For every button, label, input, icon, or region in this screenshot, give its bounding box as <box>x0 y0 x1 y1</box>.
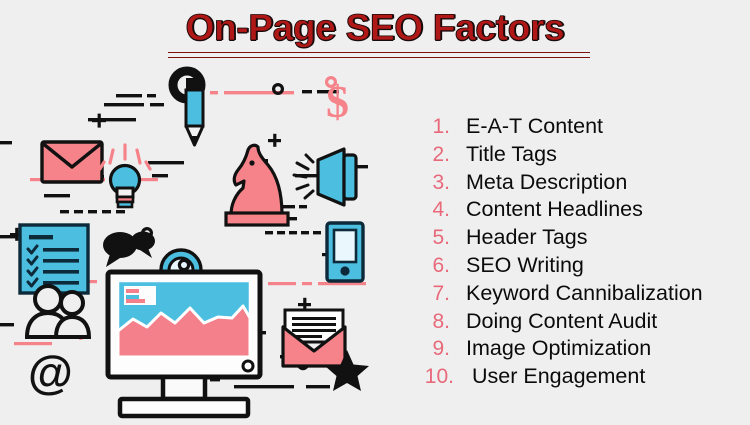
list-item-number: 10. <box>408 365 454 389</box>
seo-factors-list: 1. E-A-T Content 2. Title Tags 3. Meta D… <box>408 114 748 392</box>
poster-canvas: On-Page SEO Factors <box>0 0 750 425</box>
list-item-label: SEO Writing <box>466 253 584 278</box>
list-item-label: Title Tags <box>466 142 557 167</box>
svg-text:@: @ <box>28 346 73 398</box>
seo-illustration: $ <box>0 55 400 425</box>
list-item: 3. Meta Description <box>408 170 748 198</box>
desktop-monitor-icon <box>108 260 260 416</box>
list-item-number: 6. <box>408 254 450 278</box>
list-item-number: 3. <box>408 171 450 195</box>
page-title: On-Page SEO Factors <box>182 6 569 50</box>
list-item-number: 1. <box>408 115 450 139</box>
list-item-label: Image Optimization <box>466 336 651 361</box>
chess-knight-icon <box>226 145 288 225</box>
list-item-label: User Engagement <box>472 364 645 389</box>
list-item: 9. Image Optimization <box>408 336 748 364</box>
page-title-wrapper: On-Page SEO Factors <box>0 6 750 50</box>
list-item-label: E-A-T Content <box>466 114 603 139</box>
list-item: 6. SEO Writing <box>408 253 748 281</box>
smartphone-icon <box>327 223 363 281</box>
list-item-label: Keyword Cannibalization <box>466 281 703 306</box>
list-item: 8. Doing Content Audit <box>408 309 748 337</box>
list-item-number: 4. <box>408 198 450 222</box>
speech-bubbles-icon <box>103 232 155 268</box>
list-item-label: Header Tags <box>466 225 588 250</box>
list-item-label: Content Headlines <box>466 197 643 222</box>
list-item-number: 2. <box>408 143 450 167</box>
list-item: 7. Keyword Cannibalization <box>408 281 748 309</box>
dollar-sign-icon: $ <box>326 76 349 127</box>
list-item: 1. E-A-T Content <box>408 114 748 142</box>
list-item-number: 8. <box>408 310 450 334</box>
pencil-icon <box>186 78 203 145</box>
svg-text:$: $ <box>326 76 349 127</box>
list-item-number: 9. <box>408 337 450 361</box>
at-sign-icon: @ <box>28 346 73 398</box>
list-item-label: Doing Content Audit <box>466 309 657 334</box>
list-item: 4. Content Headlines <box>408 197 748 225</box>
list-item-number: 7. <box>408 282 450 306</box>
megaphone-icon <box>294 149 356 205</box>
list-item: 2. Title Tags <box>408 142 748 170</box>
list-item: 10. User Engagement <box>408 364 748 392</box>
users-group-icon <box>27 286 89 337</box>
monitor-legend-badge <box>124 286 156 305</box>
lightbulb-icon <box>100 145 150 207</box>
list-item-number: 5. <box>408 226 450 250</box>
open-envelope-letter-icon <box>283 310 345 366</box>
list-item: 5. Header Tags <box>408 225 748 253</box>
checklist-clipboard-icon <box>20 225 88 293</box>
envelope-icon <box>42 142 102 182</box>
list-item-label: Meta Description <box>466 170 627 195</box>
